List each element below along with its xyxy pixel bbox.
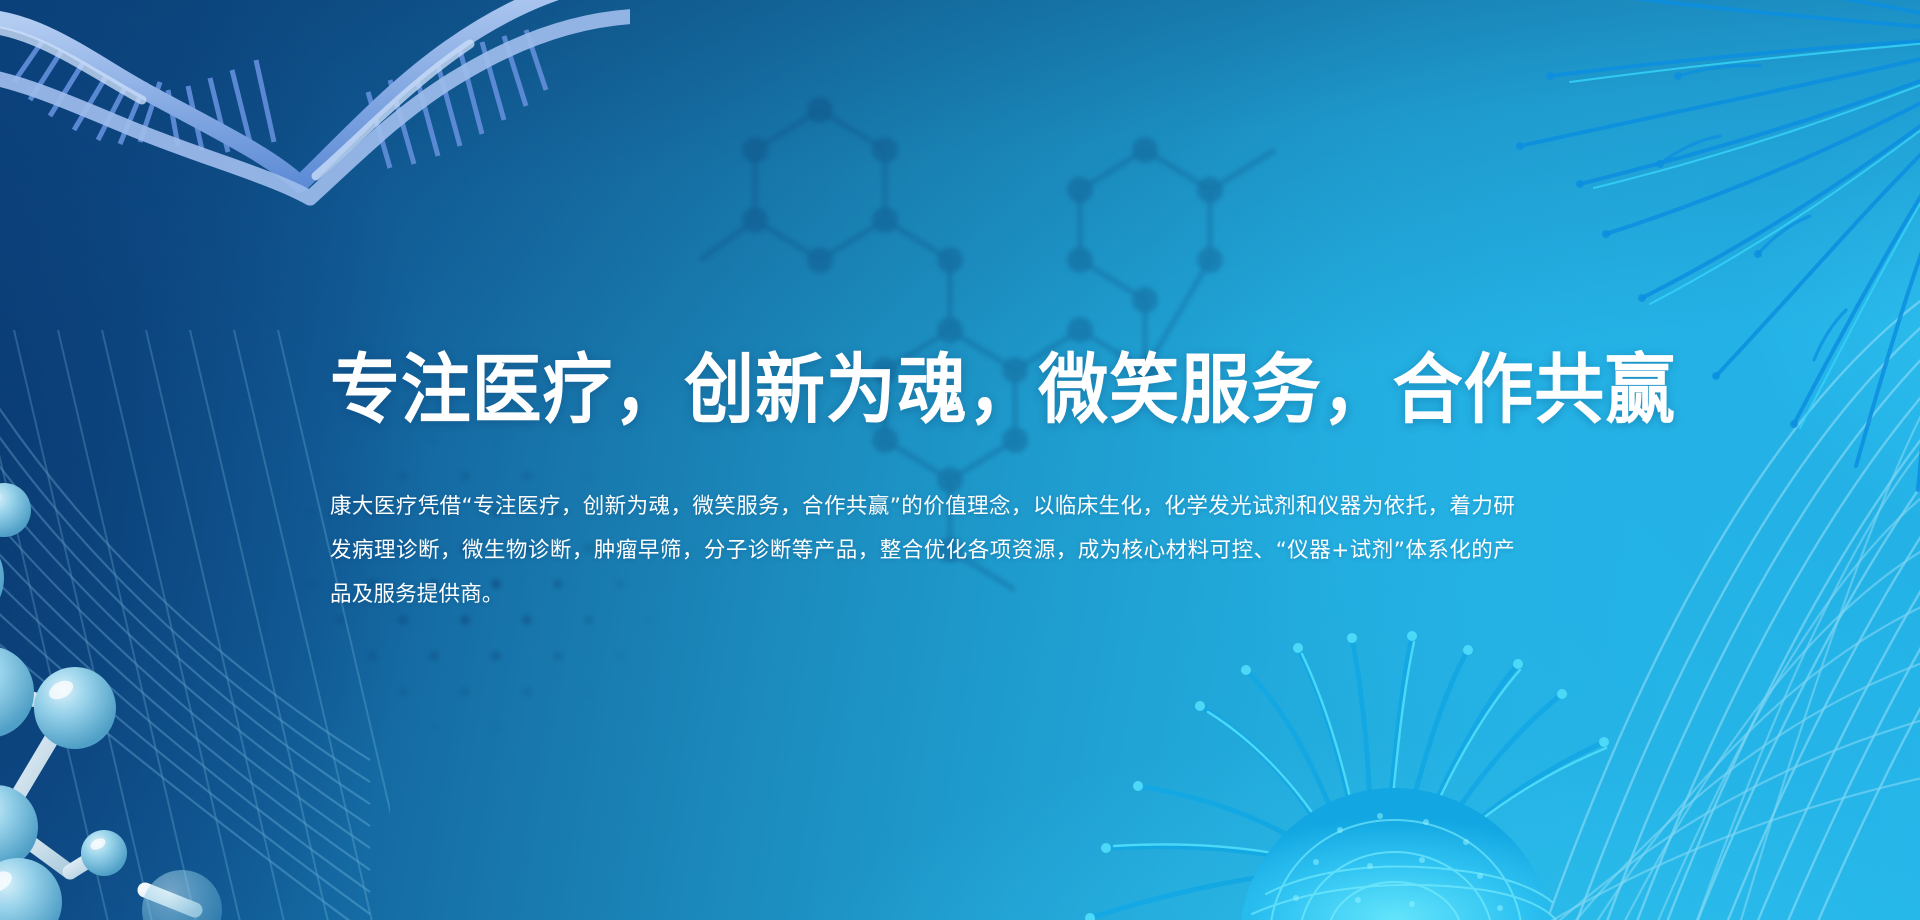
banner-content: 专注医疗，创新为魂，微笑服务，合作共赢 康大医疗凭借“专注医疗，创新为魂，微笑服… — [330, 350, 1560, 617]
page-title: 专注医疗，创新为魂，微笑服务，合作共赢 — [330, 350, 1462, 431]
molecule-model-graphic — [0, 390, 330, 920]
banner-description: 康大医疗凭借“专注医疗，创新为魂，微笑服务，合作共赢”的价值理念，以临床生化，化… — [330, 485, 1515, 617]
hero-banner: 专注医疗，创新为魂，微笑服务，合作共赢 康大医疗凭借“专注医疗，创新为魂，微笑服… — [0, 0, 1920, 920]
dna-helix-graphic — [0, 0, 630, 260]
